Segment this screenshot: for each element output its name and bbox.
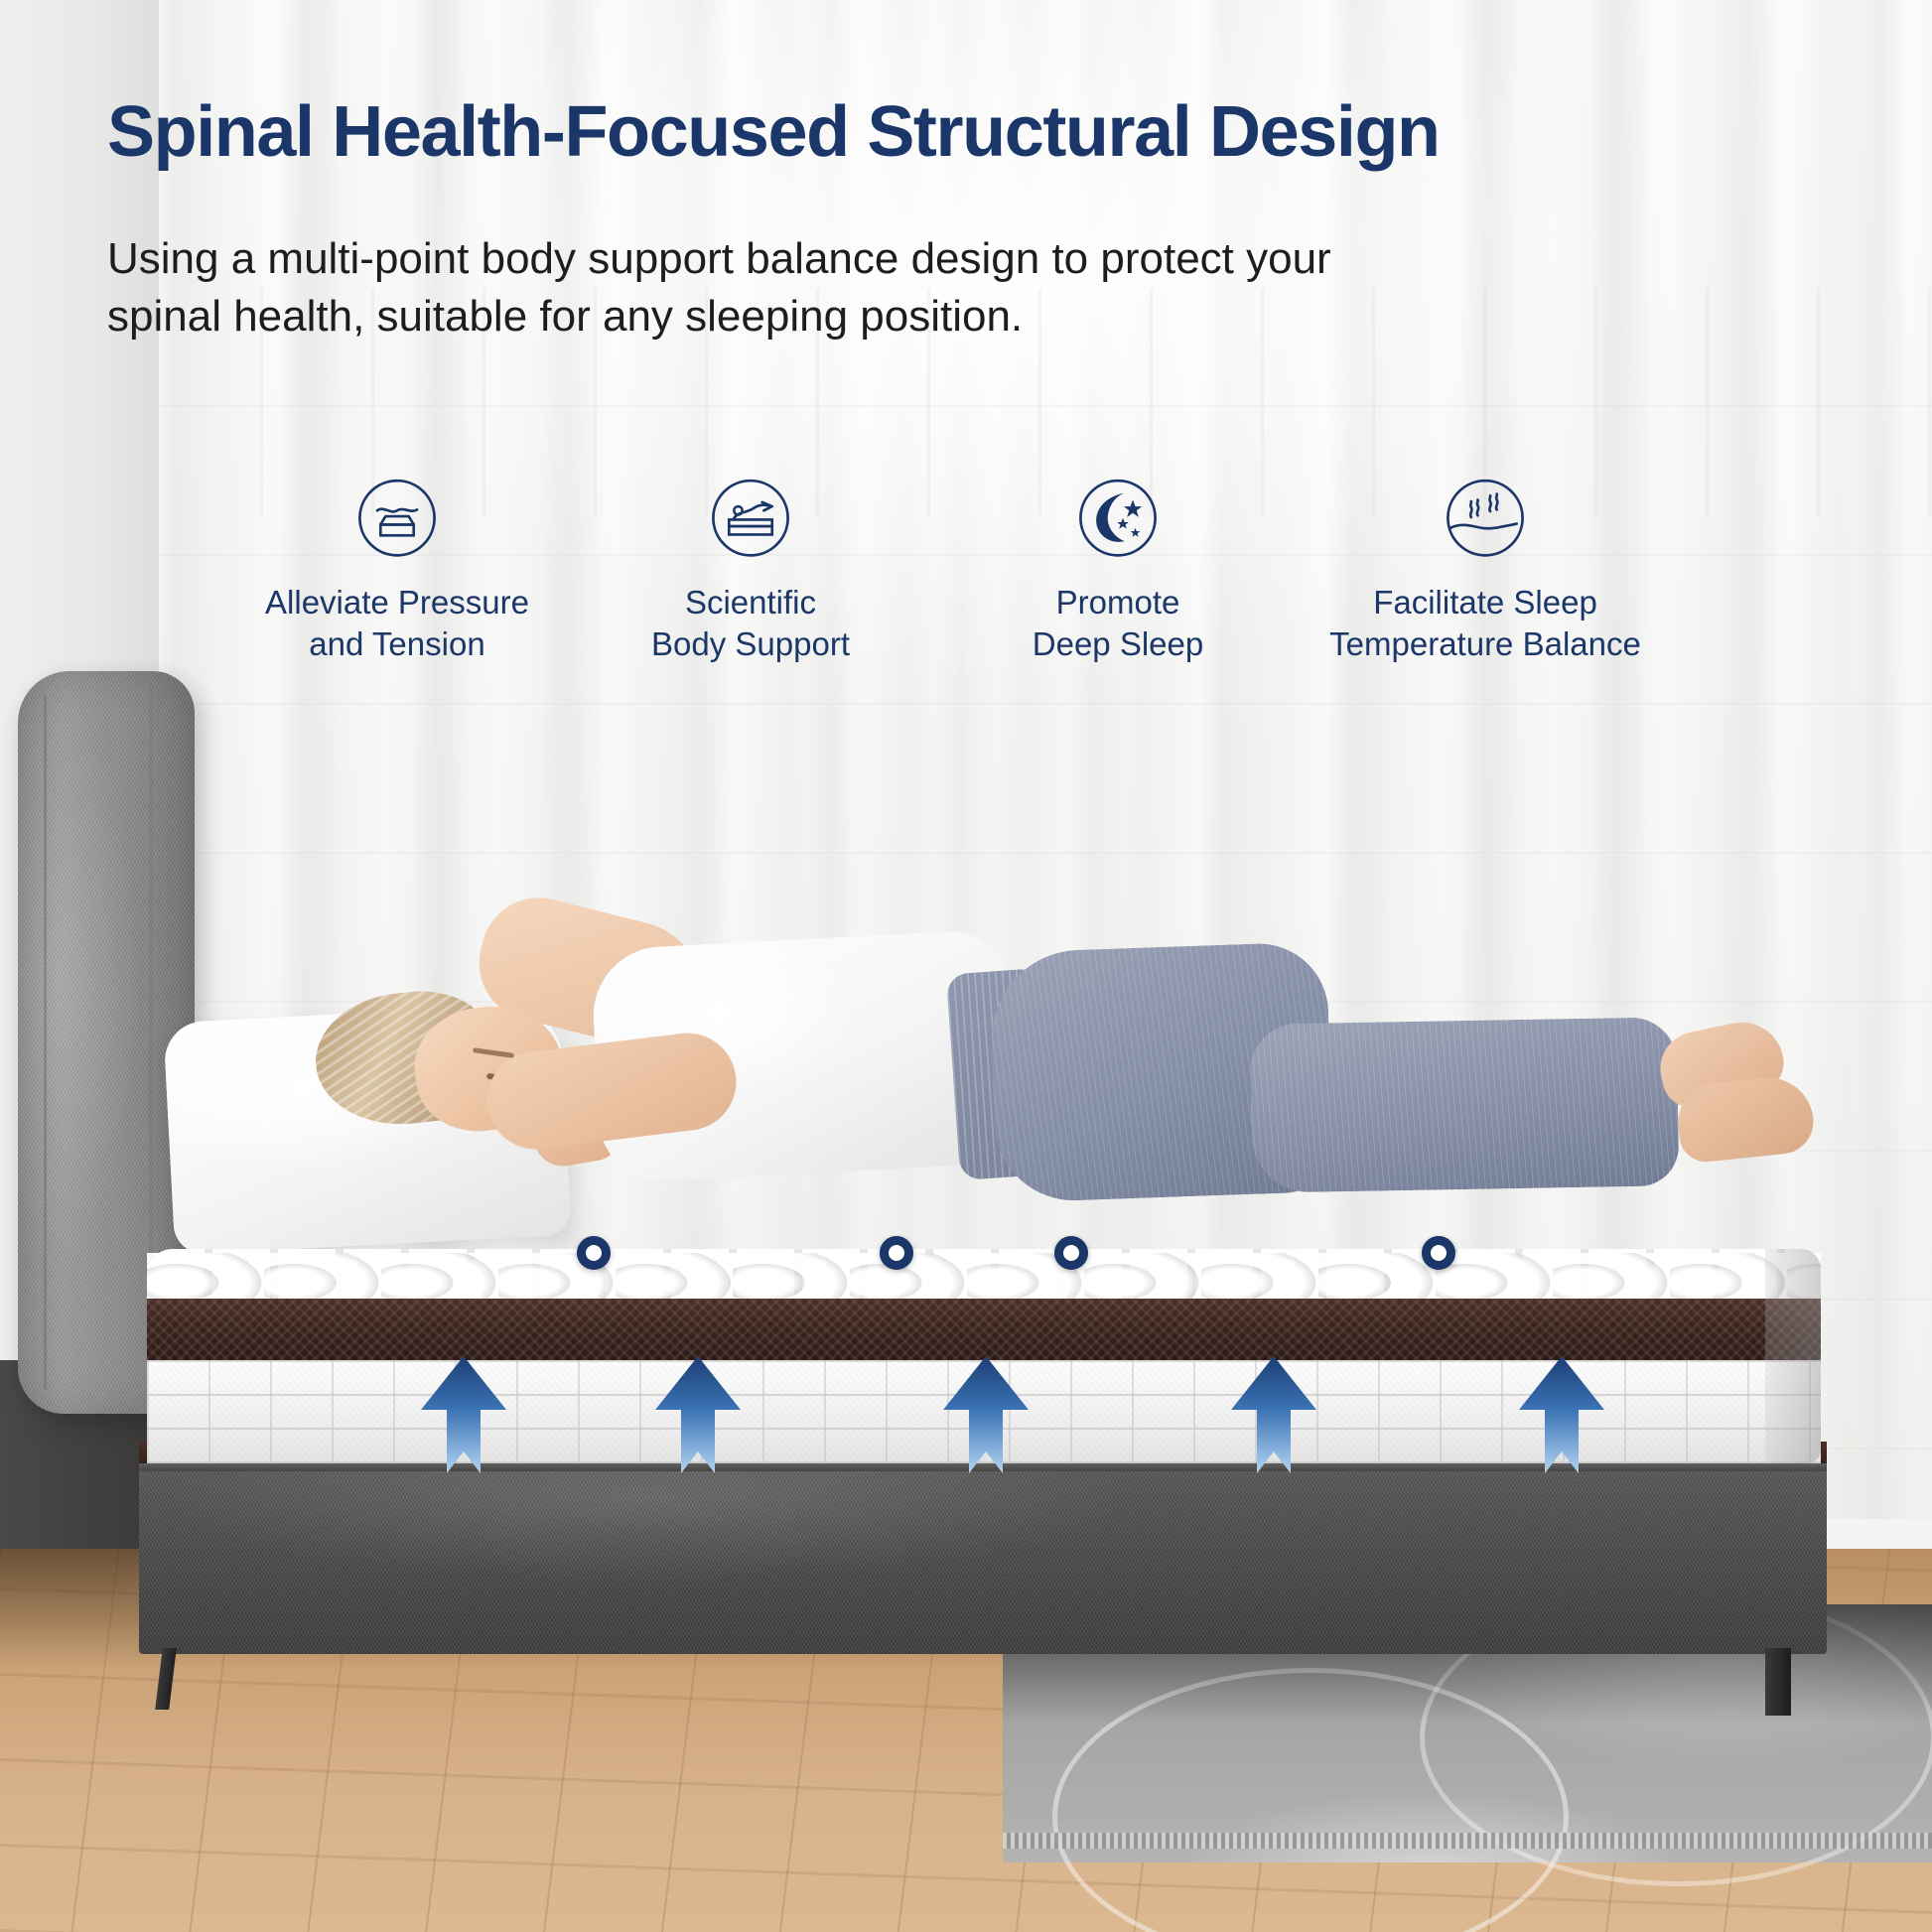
feature-label: Promote Deep Sleep — [1033, 582, 1203, 665]
support-point-marker — [880, 1236, 913, 1270]
heat-waves-icon — [1410, 477, 1561, 560]
support-arrow — [1519, 1356, 1604, 1473]
bed-leg-right — [1765, 1648, 1791, 1716]
feature-label: Facilitate Sleep Temperature Balance — [1329, 582, 1641, 665]
page-title: Spinal Health-Focused Structural Design — [107, 91, 1440, 173]
feature-alleviate-pressure: Alleviate Pressure and Tension — [203, 477, 592, 665]
feature-label: Alleviate Pressure and Tension — [265, 582, 529, 665]
support-point-marker — [577, 1236, 611, 1270]
feature-deep-sleep: Promote Deep Sleep — [923, 477, 1312, 665]
sleeping-woman — [298, 794, 1440, 1261]
moon-stars-icon — [1042, 477, 1193, 560]
headboard-seam — [44, 695, 47, 1390]
body-support-icon — [675, 477, 826, 560]
support-point-marker — [1054, 1236, 1088, 1270]
mattress-layers-icon — [322, 477, 473, 560]
bed-base-texture — [139, 1459, 1827, 1654]
page-subtitle: Using a multi-point body support balance… — [107, 230, 1408, 345]
mattress-right-edge — [1765, 1249, 1821, 1463]
feature-label: Scientific Body Support — [651, 582, 850, 665]
feature-body-support: Scientific Body Support — [556, 477, 945, 665]
support-arrow — [1231, 1356, 1316, 1473]
feature-row: Alleviate Pressure and Tension Scientifi… — [149, 477, 1837, 665]
feature-temperature-balance: Facilitate Sleep Temperature Balance — [1291, 477, 1680, 665]
support-arrow — [943, 1356, 1029, 1473]
support-arrow — [655, 1356, 741, 1473]
lower-leg — [1250, 1017, 1680, 1192]
mattress-mesh-band — [147, 1299, 1821, 1360]
rug-fringe — [1003, 1833, 1932, 1849]
support-point-marker — [1422, 1236, 1455, 1270]
support-arrow — [421, 1356, 506, 1473]
mattress-top-puffs — [147, 1253, 1821, 1301]
